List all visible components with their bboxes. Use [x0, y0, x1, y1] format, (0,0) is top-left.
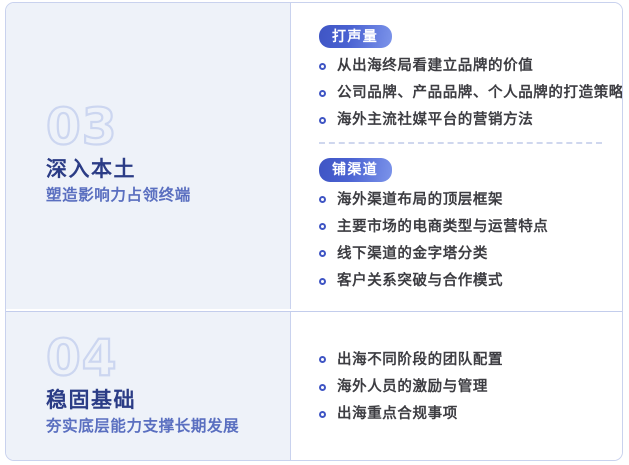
group-divider — [319, 142, 602, 144]
list-item[interactable]: 海外渠道布局的顶层框架 — [319, 191, 623, 209]
list-item[interactable]: 从出海终局看建立品牌的价值 — [319, 57, 623, 75]
group-item-list: 从出海终局看建立品牌的价值 公司品牌、产品品牌、个人品牌的打造策略 海外主流社媒… — [319, 57, 623, 129]
bullet-ring-icon — [319, 384, 326, 391]
bullet-ring-icon — [319, 117, 326, 124]
section-04-content-pane: 出海不同阶段的团队配置 海外人员的激励与管理 出海重点合规事项 — [291, 312, 622, 461]
list-item[interactable]: 公司品牌、产品品牌、个人品牌的打造策略 — [319, 84, 623, 102]
list-item[interactable]: 海外人员的激励与管理 — [319, 378, 604, 396]
list-item-label: 出海重点合规事项 — [337, 405, 458, 423]
list-item-label: 海外人员的激励与管理 — [337, 378, 488, 396]
section-03-title: 深入本土 — [46, 157, 290, 183]
list-item[interactable]: 海外主流社媒平台的营销方法 — [319, 111, 623, 129]
section-04-title: 稳固基础 — [46, 388, 290, 414]
group-foundation: 出海不同阶段的团队配置 海外人员的激励与管理 出海重点合规事项 — [319, 351, 604, 423]
list-item-label: 从出海终局看建立品牌的价值 — [337, 57, 533, 75]
section-03-number: 03 — [46, 102, 290, 152]
curriculum-card: 03 深入本土 塑造影响力占领终端 打声量 从出海终局看建立品牌的价值 公司品牌… — [5, 2, 623, 461]
bullet-ring-icon — [319, 223, 326, 230]
list-item-label: 出海不同阶段的团队配置 — [337, 351, 503, 369]
bullet-ring-icon — [319, 196, 326, 203]
group-badge: 铺渠道 — [319, 158, 392, 181]
group-item-list: 出海不同阶段的团队配置 海外人员的激励与管理 出海重点合规事项 — [319, 351, 604, 423]
section-04-subtitle: 夯实底层能力支撑长期发展 — [46, 417, 290, 437]
list-item-label: 客户关系突破与合作模式 — [337, 272, 503, 290]
group-item-list: 海外渠道布局的顶层框架 主要市场的电商类型与运营特点 线下渠道的金字塔分类 客户… — [319, 191, 623, 291]
list-item-label: 海外主流社媒平台的营销方法 — [337, 111, 533, 129]
bullet-ring-icon — [319, 90, 326, 97]
section-03-left-pane: 03 深入本土 塑造影响力占领终端 — [6, 3, 291, 309]
list-item[interactable]: 出海不同阶段的团队配置 — [319, 351, 604, 369]
section-03-content-pane: 打声量 从出海终局看建立品牌的价值 公司品牌、产品品牌、个人品牌的打造策略 海外… — [291, 3, 623, 309]
section-04-left-pane: 04 稳固基础 夯实底层能力支撑长期发展 — [6, 312, 291, 461]
bullet-ring-icon — [319, 411, 326, 418]
group-puqudao: 铺渠道 海外渠道布局的顶层框架 主要市场的电商类型与运营特点 线下渠道的金字塔分… — [319, 158, 623, 290]
bullet-ring-icon — [319, 250, 326, 257]
bullet-ring-icon — [319, 356, 326, 363]
group-badge: 打声量 — [319, 25, 392, 48]
list-item[interactable]: 客户关系突破与合作模式 — [319, 272, 623, 290]
list-item[interactable]: 出海重点合规事项 — [319, 405, 604, 423]
section-row-04: 04 稳固基础 夯实底层能力支撑长期发展 出海不同阶段的团队配置 海外人员的激励… — [6, 311, 622, 461]
bullet-ring-icon — [319, 278, 326, 285]
list-item[interactable]: 主要市场的电商类型与运营特点 — [319, 218, 623, 236]
group-dasheng-liang: 打声量 从出海终局看建立品牌的价值 公司品牌、产品品牌、个人品牌的打造策略 海外… — [319, 25, 623, 129]
section-04-number: 04 — [46, 333, 290, 383]
list-item-label: 主要市场的电商类型与运营特点 — [337, 218, 548, 236]
section-03-subtitle: 塑造影响力占领终端 — [46, 186, 290, 206]
list-item-label: 海外渠道布局的顶层框架 — [337, 191, 503, 209]
bullet-ring-icon — [319, 63, 326, 70]
list-item[interactable]: 线下渠道的金字塔分类 — [319, 245, 623, 263]
section-row-03: 03 深入本土 塑造影响力占领终端 打声量 从出海终局看建立品牌的价值 公司品牌… — [6, 3, 622, 309]
list-item-label: 公司品牌、产品品牌、个人品牌的打造策略 — [337, 84, 623, 102]
list-item-label: 线下渠道的金字塔分类 — [337, 245, 488, 263]
